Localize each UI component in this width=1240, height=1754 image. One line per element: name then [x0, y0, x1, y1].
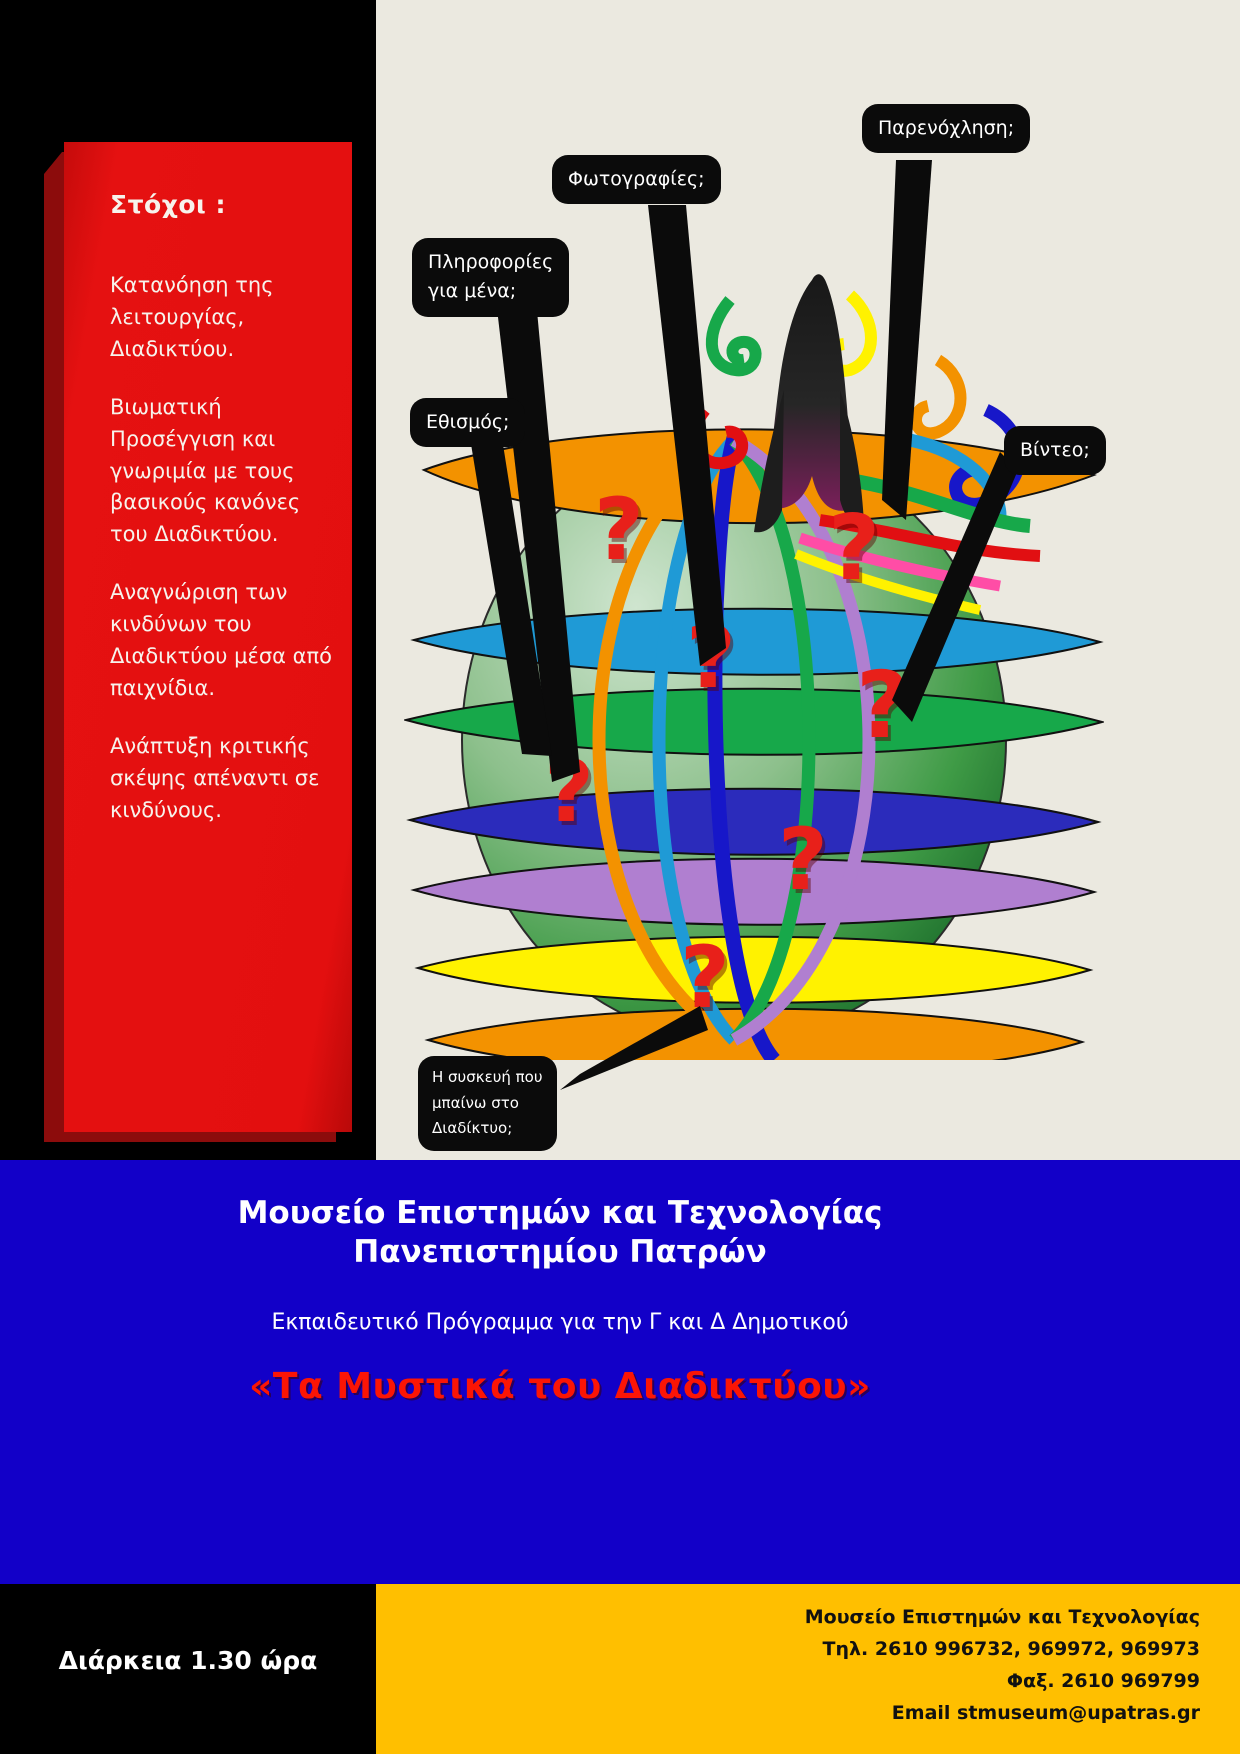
- contact-line[interactable]: Email stmuseum@upatras.gr: [500, 1698, 1200, 1730]
- callout-info-about-me[interactable]: Πληροφορίες για μένα;: [412, 238, 569, 317]
- banner-subtitle: Εκπαιδευτικό Πρόγραμμα για την Γ και Δ Δ…: [0, 1310, 1120, 1335]
- pointer-photos: [648, 205, 726, 666]
- callout-device[interactable]: Η συσκευή που μπαίνω στο Διαδίκτυο;: [418, 1056, 557, 1151]
- callout-harassment[interactable]: Παρενόχληση;: [862, 104, 1030, 153]
- footer-duration-block: Διάρκεια 1.30 ώρα: [0, 1584, 376, 1754]
- contact-line: Μουσείο Επιστημών και Τεχνολογίας: [500, 1602, 1200, 1634]
- pointer-device: [560, 1006, 708, 1090]
- banner-title-line1: Μουσείο Επιστημών και Τεχνολογίας: [0, 1194, 1120, 1233]
- program-title: «Τα Μυστικά του Διαδικτύου»: [0, 1366, 1120, 1407]
- contact-line: Τηλ. 2610 996732, 969972, 969973: [500, 1634, 1200, 1666]
- banner-title-line2: Πανεπιστημίου Πατρών: [0, 1233, 1120, 1272]
- contact-info: Μουσείο Επιστημών και Τεχνολογίας Τηλ. 2…: [500, 1602, 1200, 1730]
- contact-line: Φαξ. 2610 969799: [500, 1666, 1200, 1698]
- callout-video[interactable]: Βίντεο;: [1004, 426, 1106, 475]
- callout-photos[interactable]: Φωτογραφίες;: [552, 155, 721, 204]
- footer-contact-block: Μουσείο Επιστημών και Τεχνολογίας Τηλ. 2…: [376, 1584, 1240, 1754]
- poster-root: ? ? ? ? ? ? ? Παρενόχληση; Φωτογραφίες; …: [0, 0, 1240, 1754]
- pointer-harassment: [882, 160, 932, 520]
- banner-blue: Μουσείο Επιστημών και Τεχνολογίας Πανεπι…: [0, 1160, 1240, 1584]
- pointer-video: [892, 452, 1018, 722]
- banner-title: Μουσείο Επιστημών και Τεχνολογίας Πανεπι…: [0, 1194, 1120, 1272]
- duration-text: Διάρκεια 1.30 ώρα: [0, 1646, 376, 1675]
- callout-addiction[interactable]: Εθισμός;: [410, 398, 525, 447]
